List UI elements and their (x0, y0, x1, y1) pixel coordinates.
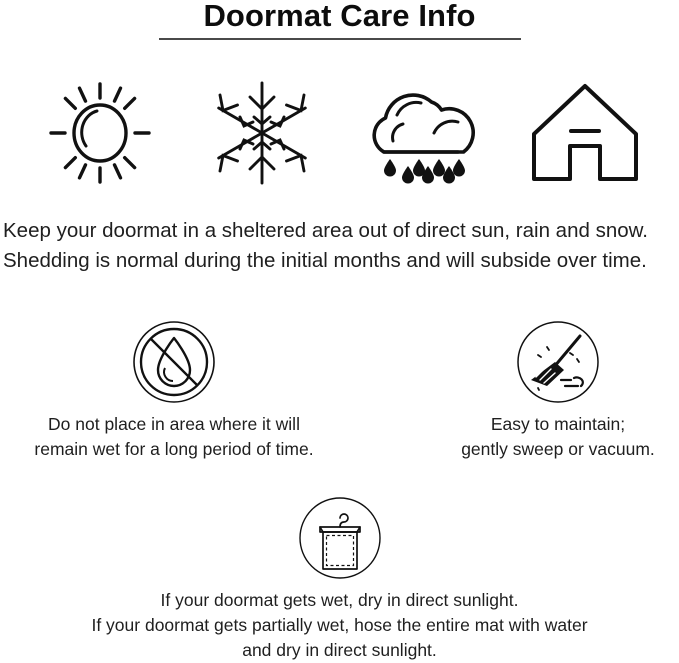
intro-paragraph: Keep your doormat in a sheltered area ou… (3, 216, 679, 276)
rain-cloud-icon (362, 75, 484, 191)
drying-caption: If your doormat gets wet, dry in direct … (0, 588, 679, 663)
drying-instructions: If your doormat gets wet, dry in direct … (0, 492, 679, 663)
broom-sweep-icon (516, 320, 600, 404)
care-item-icon-wrap (4, 318, 344, 406)
snowflake-icon (210, 77, 314, 189)
care-item-caption: Easy to maintain; gently sweep or vacuum… (388, 412, 679, 462)
care-items-row: Do not place in area where it will remai… (0, 318, 679, 463)
page-title: Doormat Care Info (0, 0, 679, 34)
sun-icon (45, 76, 155, 190)
page-header: Doormat Care Info (0, 0, 679, 40)
care-item-sweep: Easy to maintain; gently sweep or vacuum… (388, 318, 679, 462)
weather-cell-rain-cloud (353, 72, 493, 194)
weather-cell-house (515, 72, 655, 194)
care-item-caption: Do not place in area where it will remai… (4, 412, 344, 462)
house-icon (526, 77, 644, 189)
care-item-no-water: Do not place in area where it will remai… (4, 318, 344, 462)
weather-cell-snowflake (192, 72, 332, 194)
no-water-icon (132, 320, 216, 404)
hang-to-dry-icon (298, 496, 382, 580)
drying-icon-wrap (0, 492, 679, 584)
weather-icon-row (0, 72, 679, 194)
weather-cell-sun (30, 72, 170, 194)
title-divider (159, 38, 521, 40)
care-item-icon-wrap (388, 318, 679, 406)
